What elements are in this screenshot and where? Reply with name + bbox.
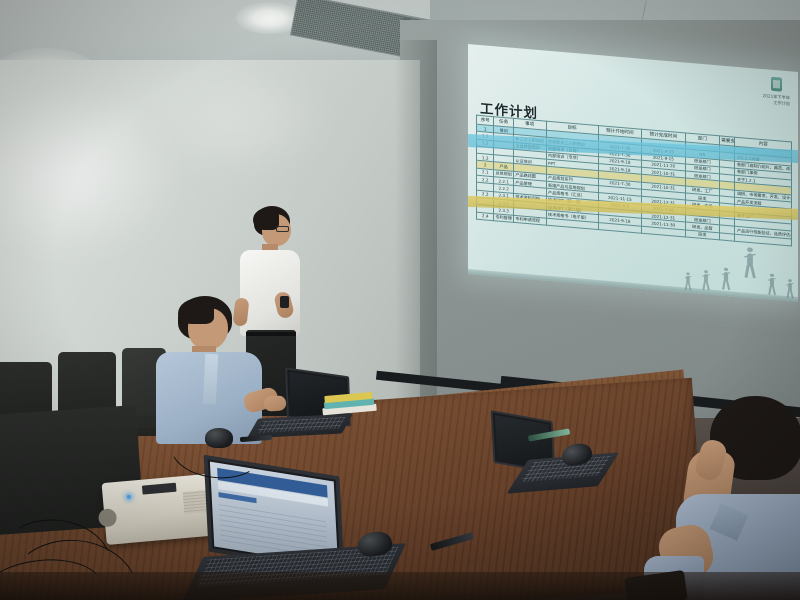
wall-light-glow: [150, 60, 330, 180]
runner-silhouette-icon: [766, 273, 778, 296]
slide-logo-icon: [771, 77, 782, 92]
laptop-keyboard[interactable]: [256, 417, 345, 433]
person-foreground-right: [636, 398, 800, 600]
slide-brand-text: 2021年下半年 工作计划: [763, 93, 790, 108]
glasses-icon: [276, 226, 289, 232]
projection-screen: 2021年下半年 工作计划 工作计划 序号任务事项目标预计开始时间预计完成时间部…: [468, 44, 798, 302]
notebook-stack[interactable]: [321, 390, 377, 417]
table-front-edge: [0, 572, 800, 600]
projection-screen-area: 2021年下半年 工作计划 工作计划 序号任务事项目标预计开始时间预计完成时间部…: [468, 44, 800, 326]
projector-power-led-icon: [127, 495, 131, 499]
runner-silhouette-icon: [741, 247, 758, 295]
runner-silhouette-icon: [720, 267, 733, 292]
seated-shirt-placket: [203, 354, 219, 405]
meeting-room-photo: 2021年下半年 工作计划 工作计划 序号任务事项目标预计开始时间预计完成时间部…: [0, 0, 800, 600]
seated-hair: [178, 298, 214, 324]
slide-table-cell: 专利管理: [494, 213, 514, 222]
wireless-mouse[interactable]: [205, 428, 233, 448]
runner-silhouette-icon: [700, 270, 711, 291]
slide-table-cell: 2.4: [477, 212, 494, 221]
slide-table-cell: [720, 232, 735, 241]
projector-lens-icon: [98, 508, 118, 528]
projector-vent: [142, 483, 177, 495]
runner-silhouette-icon: [785, 279, 796, 298]
